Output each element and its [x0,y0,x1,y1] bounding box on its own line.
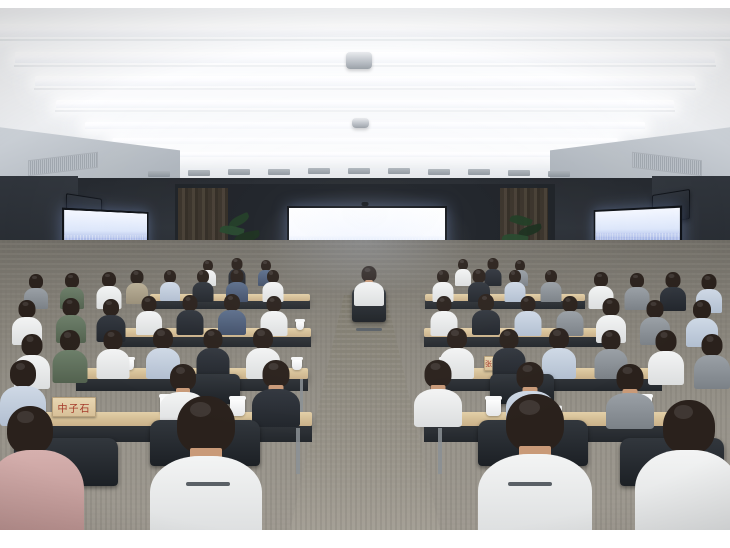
paper-cup [296,321,304,330]
head [499,329,518,349]
chair-base [186,482,230,486]
letterbox-bottom [0,530,730,548]
head [22,334,43,356]
head [601,330,620,350]
head [630,273,644,288]
air-vent-grille [188,170,210,176]
head [447,328,467,349]
linear-led-strip [113,138,618,144]
head [29,274,43,289]
head [224,294,240,311]
chair-base [356,328,382,331]
front-row-attendee [150,396,262,530]
head [663,400,715,454]
head [549,328,569,349]
attendee [52,330,87,382]
head [473,269,486,283]
center-seat-attendee [354,266,384,306]
head [520,296,535,312]
air-vent-grille [548,171,570,177]
head [702,334,723,356]
head [231,269,244,283]
head [142,296,157,312]
torso [96,349,129,379]
torso [52,350,87,383]
air-vent-grille [308,168,330,174]
linear-led-strip [56,100,674,108]
head [60,330,80,351]
front-row-attendee [414,360,462,426]
torso [635,450,730,530]
air-vent-grille [508,170,530,176]
head [266,296,281,312]
attendee [96,330,129,378]
air-vent-grille [468,169,490,175]
air-vent-grille [348,168,370,174]
head [177,396,235,454]
head [594,272,608,287]
head [7,406,53,454]
head [263,360,290,388]
head [506,394,564,452]
torso [414,389,462,427]
air-vent-grille [388,168,410,174]
head [603,298,620,316]
head [182,295,197,311]
head [170,364,196,391]
air-vent-grille [268,169,290,175]
head [436,296,451,312]
torso [0,450,84,530]
desk-leg [438,428,442,474]
linear-led-strip [0,24,730,37]
head [478,294,494,311]
head [702,274,717,290]
air-vent-grille [228,169,250,175]
head [131,270,144,284]
head [656,330,677,352]
head [153,328,173,349]
ceiling [0,8,730,186]
desk-leg [296,428,300,474]
ceiling-edge-line [55,110,675,112]
head [562,296,577,312]
smoke-detector [346,52,372,69]
letterbox-top [0,0,730,8]
chair-base [508,482,552,486]
head [203,329,222,349]
head [517,362,544,390]
ceiling-edge-line [0,39,730,41]
front-row-attendee [622,400,730,530]
head [102,272,116,287]
linear-led-strip [139,152,591,157]
head [666,272,681,288]
linear-led-strip [35,76,695,86]
head [425,360,452,388]
head [253,328,273,349]
torso [354,282,384,306]
air-vent-grille [428,169,450,175]
front-row-attendee [478,394,592,530]
head [103,299,119,316]
screen-camera-icon [362,202,369,206]
attendee [218,294,246,334]
head [103,330,122,350]
head [19,300,36,318]
conference-room-photo: 张本华 [0,0,730,548]
torso [694,355,730,389]
attendee [472,294,500,334]
head [65,273,79,288]
torso [150,456,262,530]
torso [478,454,592,530]
head [10,360,36,387]
head [693,300,711,319]
head [63,298,80,316]
front-row-attendee [0,406,100,530]
ceiling-edge-line [34,88,696,90]
meeting-room: 张本华 [0,8,730,530]
desk-leg [300,379,303,413]
head [647,300,664,318]
air-vent-grille [148,171,170,177]
attendee [694,334,730,388]
smoke-detector [352,118,369,128]
head [617,364,644,392]
